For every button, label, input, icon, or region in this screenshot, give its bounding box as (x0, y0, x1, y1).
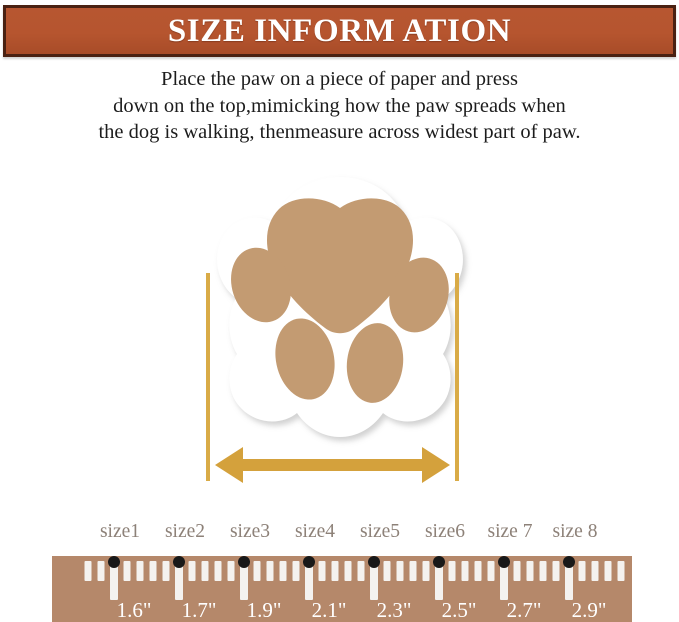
ruler-tick-minor (462, 561, 469, 581)
ruler-tick-minor (280, 561, 287, 581)
ruler-tick-minor (488, 561, 495, 581)
ruler-tick-minor (410, 561, 417, 581)
ruler-tick-minor (397, 561, 404, 581)
paw-measurement-diagram (195, 165, 485, 495)
measurement-value: 1.9" (247, 599, 282, 622)
ruler-tick-minor (592, 561, 599, 581)
ruler-tick-minor (293, 561, 300, 581)
size-label-8: size 8 (553, 520, 598, 544)
size-marker-dot (108, 556, 120, 568)
ruler-tick-minor (254, 561, 261, 581)
instructions-text: Place the paw on a piece of paper and pr… (0, 66, 679, 146)
ruler-tick-minor (98, 561, 105, 581)
width-measurement-arrow-icon (215, 447, 450, 483)
size-label-2: size2 (165, 520, 205, 544)
ruler-tick-minor (137, 561, 144, 581)
instructions-line-2: down on the top,mimicking how the paw sp… (0, 93, 679, 120)
ruler-tick-minor (189, 561, 196, 581)
ruler-tick-minor (345, 561, 352, 581)
ruler-tick-minor (579, 561, 586, 581)
size-label-7: size 7 (488, 520, 533, 544)
size-label-3: size3 (230, 520, 270, 544)
ruler-tick-minor (332, 561, 339, 581)
ruler-tick-minor (527, 561, 534, 581)
ruler-tick-minor (150, 561, 157, 581)
ruler-tick-minor (163, 561, 170, 581)
size-label-6: size6 (425, 520, 465, 544)
ruler-tick-minor (618, 561, 625, 581)
ruler-tick-minor (449, 561, 456, 581)
instructions-line-1: Place the paw on a piece of paper and pr… (0, 66, 679, 93)
instructions-line-3: the dog is walking, thenmeasure across w… (0, 119, 679, 146)
ruler-tick-minor (202, 561, 209, 581)
ruler-tick-minor (215, 561, 222, 581)
size-marker-dot (498, 556, 510, 568)
measurement-value: 2.9" (572, 599, 607, 622)
paw-illustration (195, 165, 485, 495)
size-marker-dot (368, 556, 380, 568)
measurement-value: 2.7" (507, 599, 542, 622)
ruler-tick-minor (605, 561, 612, 581)
size-label-4: size4 (295, 520, 335, 544)
size-marker-dot (433, 556, 445, 568)
size-label-1: size1 (100, 520, 140, 544)
size-information-banner: SIZE INFORM ATION (3, 5, 676, 57)
ruler-tick-minor (423, 561, 430, 581)
measurement-guide-line-right (455, 273, 459, 481)
measurement-value: 1.7" (182, 599, 217, 622)
measurement-guide-line-left (206, 273, 210, 481)
size-label-5: size5 (360, 520, 400, 544)
ruler-tick-minor (124, 561, 131, 581)
page-title: SIZE INFORM ATION (168, 15, 511, 48)
ruler-tick-minor (267, 561, 274, 581)
size-marker-dot (173, 556, 185, 568)
ruler-tick-minor (553, 561, 560, 581)
ruler-tick-minor (514, 561, 521, 581)
size-marker-dot (303, 556, 315, 568)
ruler-tick-minor (319, 561, 326, 581)
size-ruler: size1size2size3size4size5size6size 7size… (0, 520, 679, 622)
measurement-value: 2.3" (377, 599, 412, 622)
size-marker-dot (238, 556, 250, 568)
measurement-value: 2.1" (312, 599, 347, 622)
measurement-value: 2.5" (442, 599, 477, 622)
ruler-tick-minor (358, 561, 365, 581)
size-marker-dot (563, 556, 575, 568)
ruler-tick-minor (540, 561, 547, 581)
ruler-body: 1.6"1.7"1.9"2.1"2.3"2.5"2.7"2.9" (52, 556, 632, 622)
measurement-value: 1.6" (117, 599, 152, 622)
ruler-tick-minor (85, 561, 92, 581)
size-label-row: size1size2size3size4size5size6size 7size… (52, 520, 632, 550)
ruler-tick-minor (228, 561, 235, 581)
ruler-tick-minor (475, 561, 482, 581)
ruler-tick-minor (384, 561, 391, 581)
